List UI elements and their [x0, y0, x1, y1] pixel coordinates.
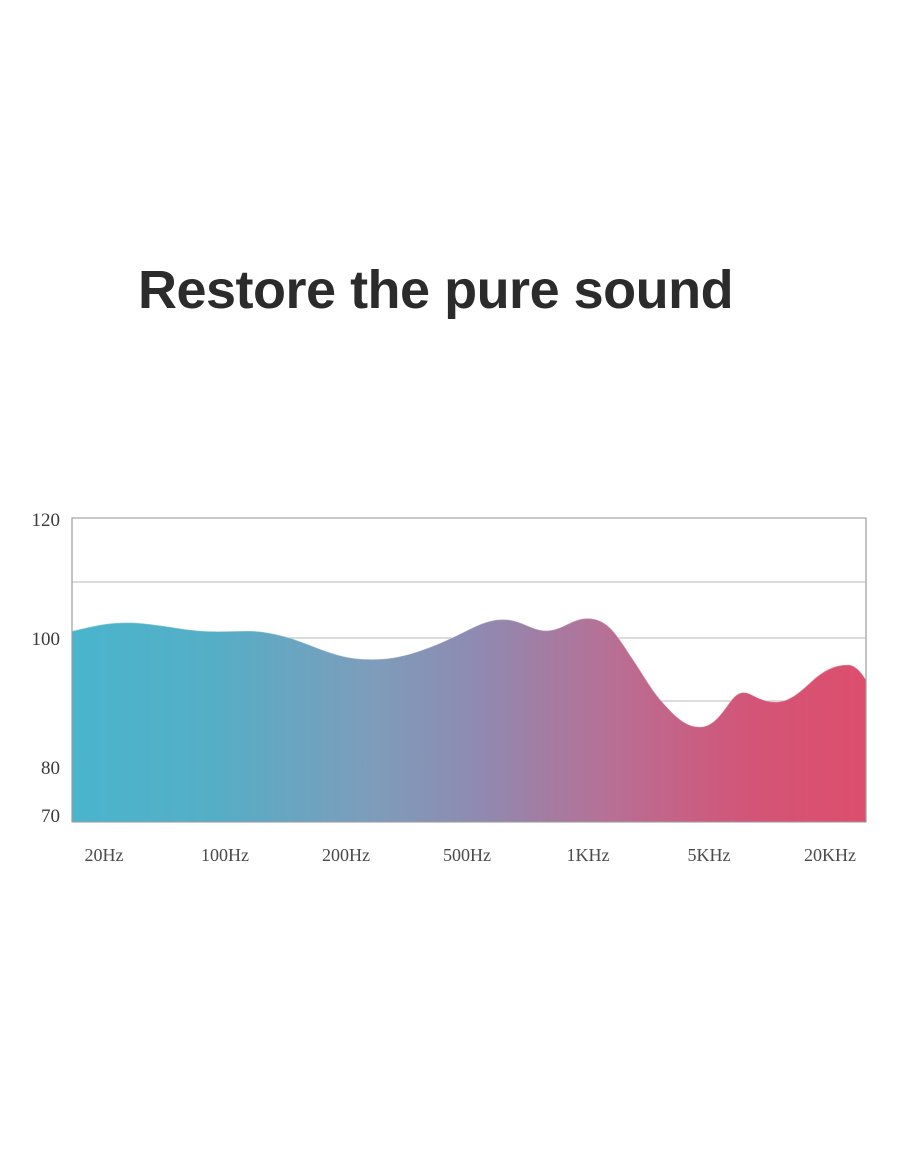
- x-axis-label-20khz: 20KHz: [804, 846, 856, 864]
- x-axis-label-500hz: 500Hz: [443, 846, 491, 864]
- page-root: Restore the pure sound: [0, 0, 910, 1155]
- frequency-response-chart: 120 100 80 70 20Hz 100Hz 200Hz 500Hz 1KH…: [0, 490, 910, 890]
- x-axis-label-100hz: 100Hz: [201, 846, 249, 864]
- x-axis-label-200hz: 200Hz: [322, 846, 370, 864]
- page-title: Restore the pure sound: [138, 260, 838, 320]
- x-axis-label-1khz: 1KHz: [567, 846, 610, 864]
- x-axis-label-20hz: 20Hz: [85, 846, 124, 864]
- y-axis-label-100: 100: [14, 630, 60, 649]
- x-axis-label-5khz: 5KHz: [688, 846, 731, 864]
- y-axis-label-80: 80: [14, 759, 60, 778]
- y-axis-label-70: 70: [14, 807, 60, 826]
- chart-plot-svg: [0, 490, 910, 890]
- y-axis-label-120: 120: [14, 511, 60, 530]
